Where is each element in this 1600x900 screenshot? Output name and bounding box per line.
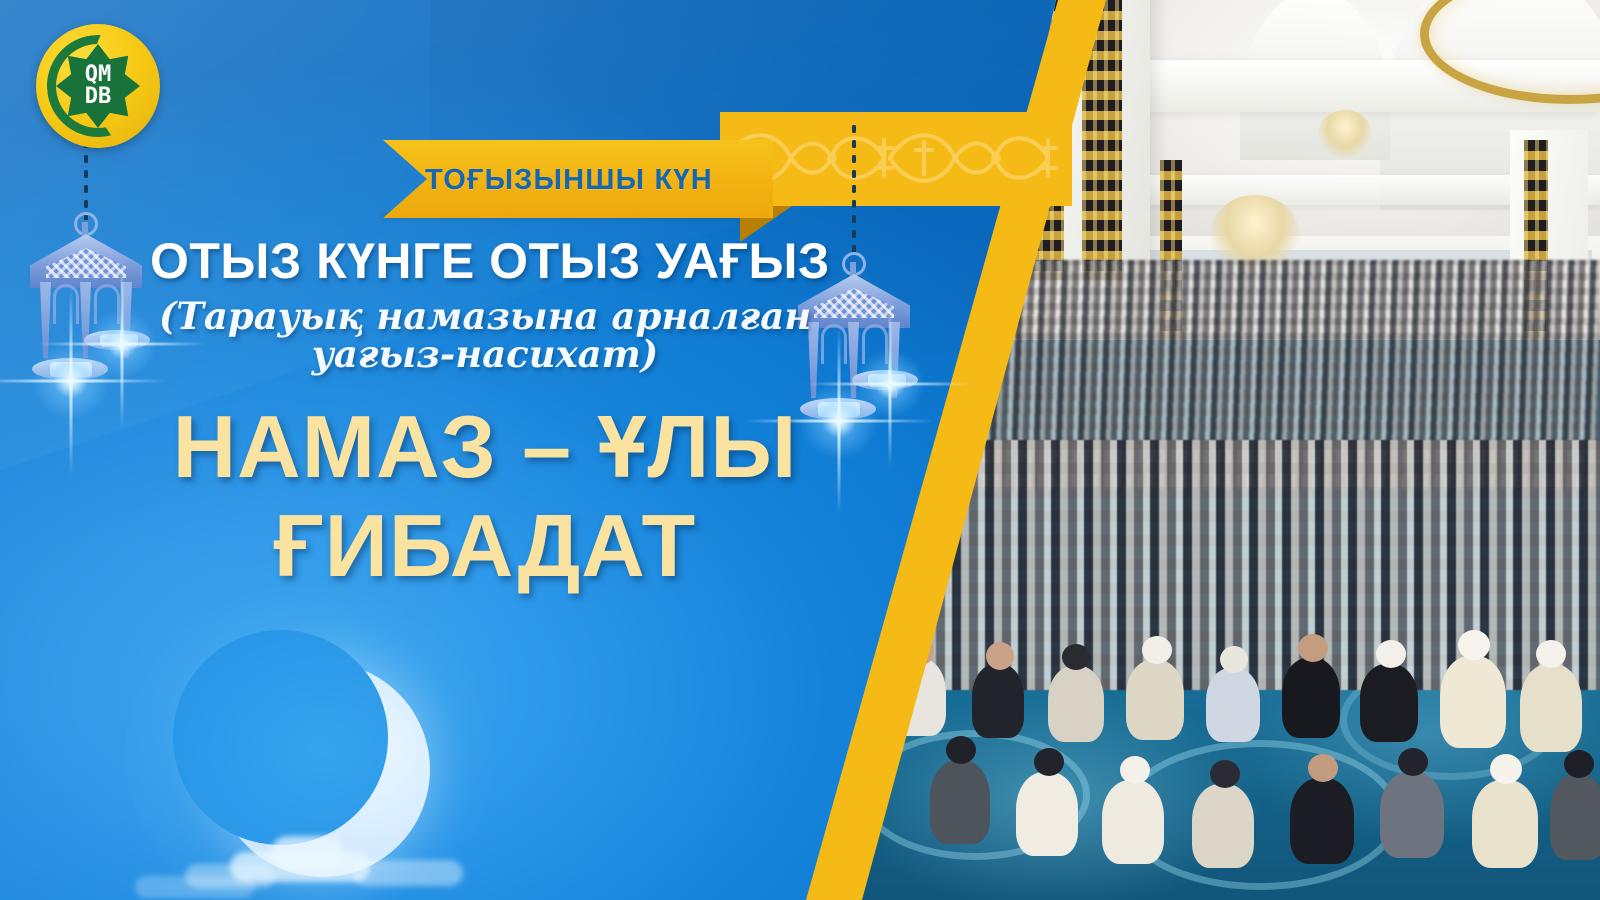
worshipper-head (986, 642, 1014, 670)
worshipper-cap (1210, 760, 1240, 788)
cloud-icon (271, 836, 343, 870)
worshipper (1360, 664, 1418, 742)
worshipper-head (1298, 634, 1328, 662)
logo-wordmark: QM DB (56, 54, 140, 118)
lantern-glass (50, 362, 92, 377)
worshipper (1048, 666, 1104, 742)
worshipper-cap (1220, 646, 1248, 673)
worshipper-cap (1398, 748, 1428, 776)
lantern-arch (53, 284, 79, 324)
lantern-cord (852, 118, 856, 260)
day-ribbon-label: ТОҒЫЗЫНШЫ КҮН (425, 152, 755, 208)
worshipper (1380, 772, 1444, 858)
worshipper (1290, 778, 1354, 864)
worshipper (1102, 780, 1164, 864)
lantern-arch (862, 324, 888, 364)
worshipper-robe (1520, 664, 1582, 752)
page-title: ОТЫЗ КҮНГЕ ОТЫЗ УАҒЫЗ (150, 236, 820, 286)
page-subtitle: (Тарауық намазына арналған уағыз-насихат… (150, 298, 820, 373)
worshipper-robe (1472, 780, 1538, 868)
worshipper (1126, 660, 1184, 740)
worshipper (930, 760, 990, 844)
main-headline-line2: ҒИБАДАТ (120, 497, 850, 596)
worshipper-cap (1034, 748, 1064, 776)
chandelier-icon (1318, 110, 1372, 158)
moon-shadow-cut (173, 630, 388, 845)
worshipper (972, 664, 1024, 738)
lantern-column (848, 322, 859, 398)
worshipper-cap (1490, 754, 1522, 784)
main-headline: НАМАЗ – ҰЛЫ ҒИБАДАТ (120, 398, 850, 595)
poster-root: ТОҒЫЗЫНШЫ КҮН (0, 0, 1600, 900)
worshipper (1016, 772, 1078, 856)
worshipper (1282, 658, 1340, 738)
lantern-glass (100, 334, 138, 347)
worshipper-cap (946, 736, 976, 764)
worshipper (1206, 668, 1260, 742)
worshipper (1192, 784, 1254, 868)
lantern-glass (868, 374, 906, 387)
lantern-column (40, 282, 51, 358)
main-headline-line1: НАМАЗ – ҰЛЫ (120, 398, 850, 497)
page-subtitle-line2: уағыз-насихат) (312, 332, 659, 376)
qmdb-logo[interactable]: QM DB (36, 24, 160, 148)
worshipper-cap (1120, 756, 1150, 784)
worshipper-cap (1564, 750, 1594, 778)
lantern-arch (821, 324, 847, 364)
worshipper-cap (1458, 630, 1490, 660)
logo-wordmark-line1: QM (85, 64, 112, 86)
lantern-column (80, 282, 91, 358)
lantern-arch (94, 284, 120, 324)
worshipper-cap (1376, 640, 1406, 668)
crescent-moon-icon (175, 640, 515, 900)
worshipper-robe (1440, 656, 1506, 748)
worshipper-head (1308, 754, 1338, 782)
cloud-icon (353, 860, 463, 886)
lantern-icon (22, 218, 150, 408)
logo-wordmark-line2: DB (85, 86, 112, 108)
worshipper-cap (1536, 640, 1566, 668)
worshipper-cap (1062, 644, 1090, 670)
worshipper (1550, 774, 1600, 860)
worshipper-cap (1142, 636, 1172, 664)
